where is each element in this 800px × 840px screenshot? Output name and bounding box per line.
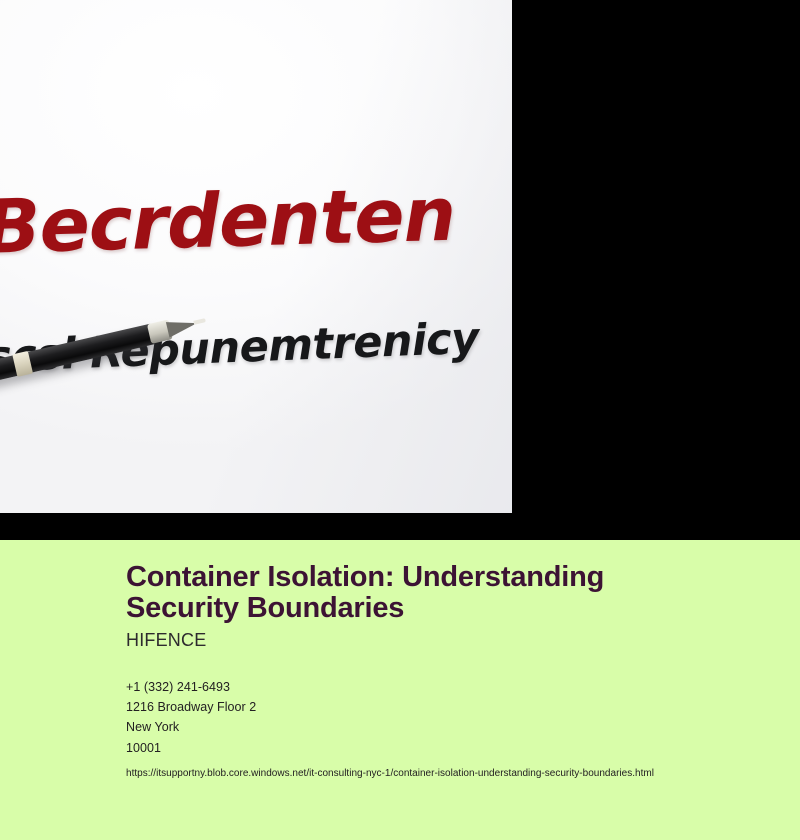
contact-city: New York — [126, 717, 760, 737]
contact-street: 1216 Broadway Floor 2 — [126, 697, 760, 717]
media-band: Becrdenten scsl Repunemtrenicy — [0, 0, 800, 540]
handwritten-note-with-pen-photo: Becrdenten scsl Repunemtrenicy — [0, 0, 512, 513]
contact-phone: +1 (332) 241-6493 — [126, 677, 760, 697]
pen-cone — [166, 315, 199, 337]
info-content: Container Isolation: Understanding Secur… — [126, 562, 760, 781]
brand-name: HIFENCE — [126, 631, 760, 651]
contact-zip: 10001 — [126, 738, 760, 758]
page-root: Becrdenten scsl Repunemtrenicy Container… — [0, 0, 800, 840]
photo-headline-text: Becrdenten — [0, 175, 512, 265]
page-title: Container Isolation: Understanding Secur… — [126, 562, 646, 624]
info-panel: Container Isolation: Understanding Secur… — [0, 540, 800, 840]
contact-details-list: +1 (332) 241-6493 1216 Broadway Floor 2 … — [126, 677, 760, 758]
source-url-link[interactable]: https://itsupportny.blob.core.windows.ne… — [126, 767, 760, 781]
